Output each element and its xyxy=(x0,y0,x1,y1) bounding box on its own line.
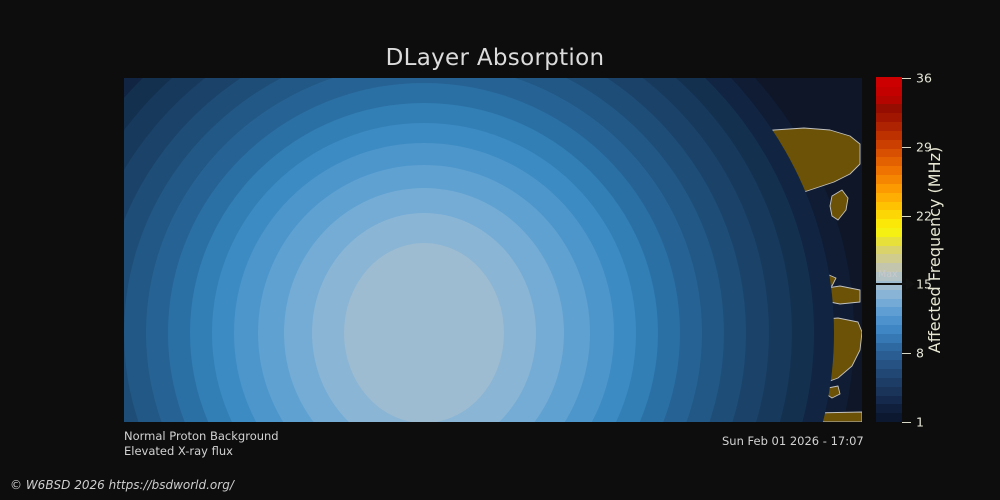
world-map[interactable] xyxy=(124,78,862,422)
absorption-overlay xyxy=(124,78,862,422)
absorption-ring xyxy=(344,243,504,422)
colorbar-segment xyxy=(876,166,902,175)
colorbar-segment xyxy=(876,333,902,342)
map-inner xyxy=(124,78,862,422)
colorbar-segment xyxy=(876,227,902,236)
colorbar-segment xyxy=(876,174,902,183)
colorbar-segment xyxy=(876,139,902,148)
colorbar[interactable] xyxy=(876,78,902,422)
colorbar-segment xyxy=(876,377,902,386)
caption-proton-background: Normal Proton Background xyxy=(124,429,279,444)
colorbar-segment xyxy=(876,148,902,157)
colorbar-tick xyxy=(902,147,911,148)
colorbar-segment xyxy=(876,324,902,333)
colorbar-segment xyxy=(876,316,902,325)
colorbar-max-marker: Max xyxy=(876,272,916,298)
colorbar-segment xyxy=(876,113,902,122)
colorbar-segment xyxy=(876,183,902,192)
colorbar-segment xyxy=(876,219,902,228)
timestamp: Sun Feb 01 2026 - 17:07 xyxy=(722,434,864,448)
max-marker-arrow-head xyxy=(906,278,915,290)
colorbar-segment xyxy=(876,122,902,131)
colorbar-segment xyxy=(876,342,902,351)
colorbar-tick xyxy=(902,422,911,423)
colorbar-segment xyxy=(876,298,902,307)
status-captions: Normal Proton Background Elevated X-ray … xyxy=(124,429,279,459)
colorbar-segment xyxy=(876,360,902,369)
colorbar-segment xyxy=(876,210,902,219)
max-marker-label: Max xyxy=(878,269,898,280)
page-title: DLayer Absorption xyxy=(0,45,990,71)
colorbar-segment xyxy=(876,157,902,166)
colorbar-segment xyxy=(876,413,902,422)
colorbar-segment xyxy=(876,104,902,113)
colorbar-segment xyxy=(876,201,902,210)
colorbar-tick xyxy=(902,353,911,354)
colorbar-segment xyxy=(876,77,902,86)
colorbar-tick xyxy=(902,216,911,217)
colorbar-segment xyxy=(876,192,902,201)
colorbar-tick xyxy=(902,78,911,79)
colorbar-segment xyxy=(876,86,902,95)
max-marker-arrow-shaft xyxy=(876,283,910,285)
colorbar-segment xyxy=(876,395,902,404)
colorbar-segment xyxy=(876,95,902,104)
colorbar-segment xyxy=(876,254,902,263)
colorbar-segment xyxy=(876,236,902,245)
colorbar-segment xyxy=(876,130,902,139)
colorbar-segment xyxy=(876,369,902,378)
colorbar-segment xyxy=(876,386,902,395)
colorbar-segment xyxy=(876,245,902,254)
colorbar-segment xyxy=(876,404,902,413)
colorbar-segment xyxy=(876,307,902,316)
caption-xray-flux: Elevated X-ray flux xyxy=(124,444,279,459)
colorbar-axis-label: Affected Frequency (MHz) xyxy=(922,78,948,422)
dlayer-absorption-screen: DLayer Absorption xyxy=(0,0,1000,500)
copyright-notice: © W6BSD 2026 https://bsdworld.org/ xyxy=(10,478,234,492)
colorbar-segment xyxy=(876,351,902,360)
